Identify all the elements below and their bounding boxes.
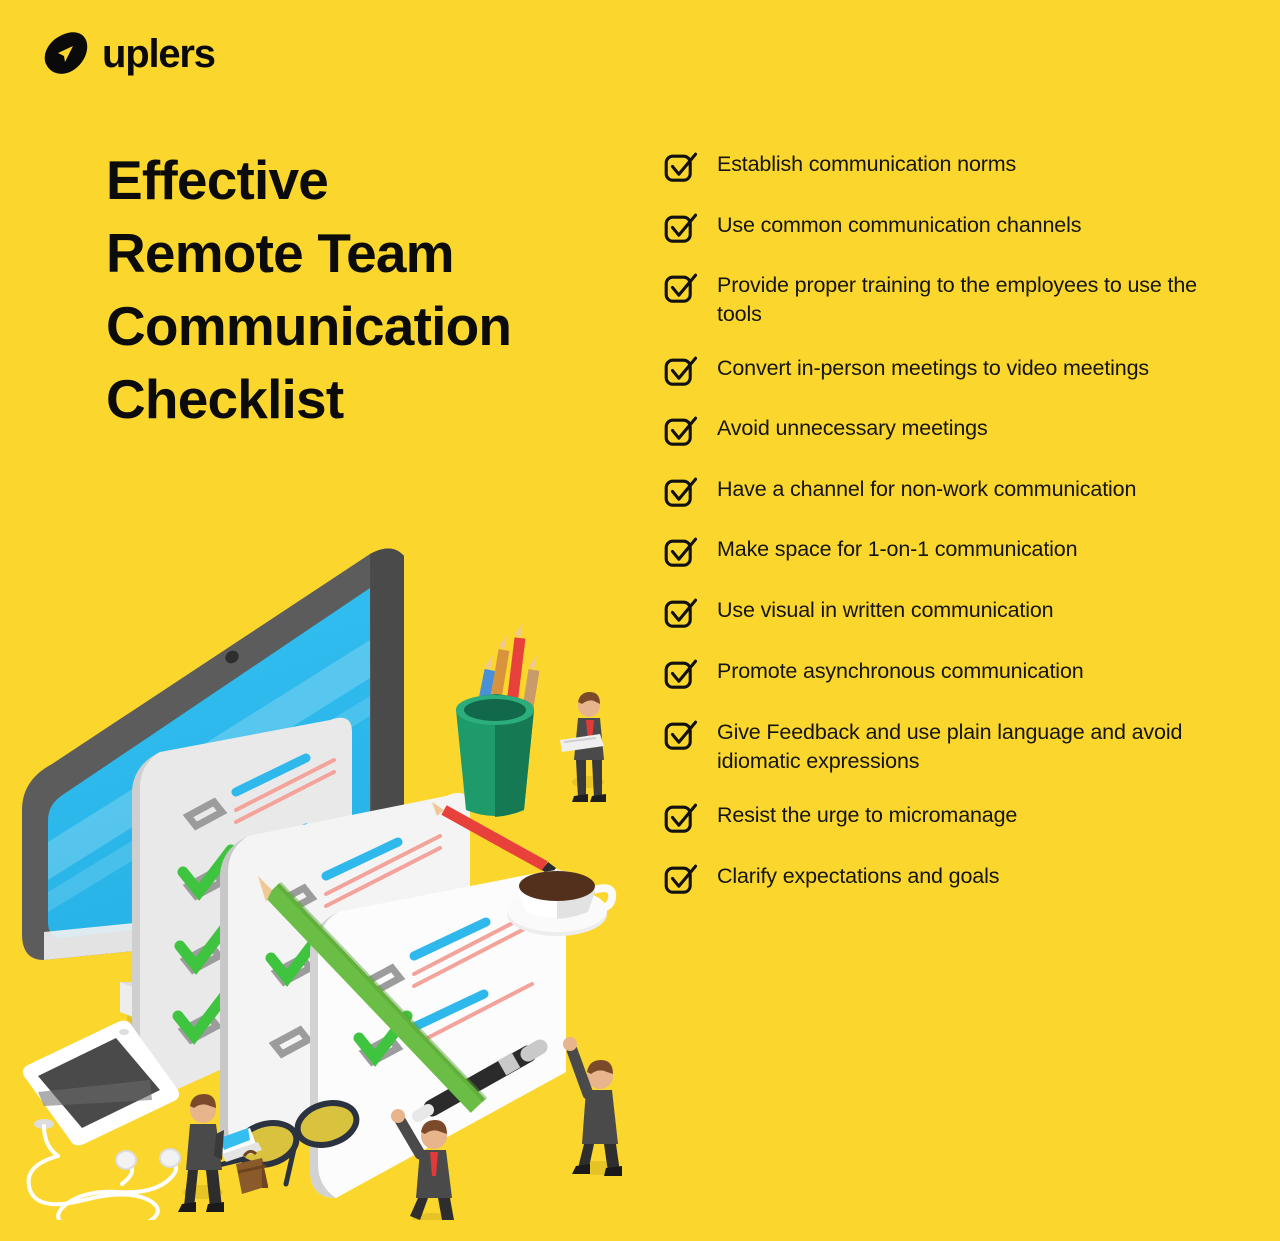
- checklist-item[interactable]: Avoid unnecessary meetings: [664, 414, 1224, 448]
- checklist-item-label: Use visual in written communication: [698, 596, 1054, 625]
- title-line-3: Communication: [106, 290, 626, 363]
- checkbox-checked-icon[interactable]: [664, 598, 698, 630]
- checklist-item-label: Make space for 1-on-1 communication: [698, 535, 1077, 564]
- checkbox-checked-icon[interactable]: [664, 803, 698, 835]
- checklist-item-label: Use common communication channels: [698, 211, 1081, 240]
- checklist-item[interactable]: Give Feedback and use plain language and…: [664, 718, 1224, 775]
- title-line-4: Checklist: [106, 363, 626, 436]
- checkbox-checked-icon[interactable]: [664, 477, 698, 509]
- checklist-item-label: Establish communication norms: [698, 150, 1016, 179]
- checklist-item[interactable]: Make space for 1-on-1 communication: [664, 535, 1224, 569]
- checklist-item-label: Resist the urge to micromanage: [698, 801, 1017, 830]
- checkbox-checked-icon[interactable]: [664, 864, 698, 896]
- page-title: Effective Remote Team Communication Chec…: [106, 144, 626, 437]
- checklist: Establish communication normsUse common …: [664, 150, 1224, 923]
- title-line-2: Remote Team: [106, 217, 626, 290]
- checklist-item-label: Clarify expectations and goals: [698, 862, 999, 891]
- checkbox-checked-icon[interactable]: [664, 273, 698, 305]
- pencil-cup: [456, 623, 537, 817]
- checklist-item-label: Provide proper training to the employees…: [698, 271, 1224, 328]
- checkbox-checked-icon[interactable]: [664, 152, 698, 184]
- earbud-tips: [116, 1149, 180, 1169]
- coffee-cup: [507, 870, 612, 936]
- checklist-item-label: Avoid unnecessary meetings: [698, 414, 988, 443]
- businessman-figure: [560, 692, 606, 802]
- checklist-item[interactable]: Use common communication channels: [664, 211, 1224, 245]
- checklist-item[interactable]: Convert in-person meetings to video meet…: [664, 354, 1224, 388]
- checklist-item[interactable]: Establish communication norms: [664, 150, 1224, 184]
- checklist-item-label: Have a channel for non-work communicatio…: [698, 475, 1136, 504]
- checklist-item[interactable]: Provide proper training to the employees…: [664, 271, 1224, 328]
- checkbox-checked-icon[interactable]: [664, 356, 698, 388]
- desk-illustration: [0, 520, 650, 1220]
- brand-name: uplers: [102, 34, 215, 74]
- checkbox-checked-icon[interactable]: [664, 720, 698, 752]
- checklist-item[interactable]: Clarify expectations and goals: [664, 862, 1224, 896]
- brand-logo[interactable]: uplers: [40, 28, 215, 80]
- checklist-item-label: Promote asynchronous communication: [698, 657, 1084, 686]
- title-line-1: Effective: [106, 144, 626, 217]
- checklist-item[interactable]: Resist the urge to micromanage: [664, 801, 1224, 835]
- checklist-item-label: Convert in-person meetings to video meet…: [698, 354, 1149, 383]
- uplers-triangle-cursor-logo-icon: [40, 28, 92, 80]
- checklist-item[interactable]: Use visual in written communication: [664, 596, 1224, 630]
- checkbox-checked-icon[interactable]: [664, 659, 698, 691]
- checklist-item-label: Give Feedback and use plain language and…: [698, 718, 1224, 775]
- checkbox-checked-icon[interactable]: [664, 213, 698, 245]
- earbuds: [29, 1126, 177, 1220]
- checklist-item[interactable]: Have a channel for non-work communicatio…: [664, 475, 1224, 509]
- checkbox-checked-icon[interactable]: [664, 416, 698, 448]
- businessman-figure: [563, 1037, 622, 1176]
- checklist-item[interactable]: Promote asynchronous communication: [664, 657, 1224, 691]
- checkbox-checked-icon[interactable]: [664, 537, 698, 569]
